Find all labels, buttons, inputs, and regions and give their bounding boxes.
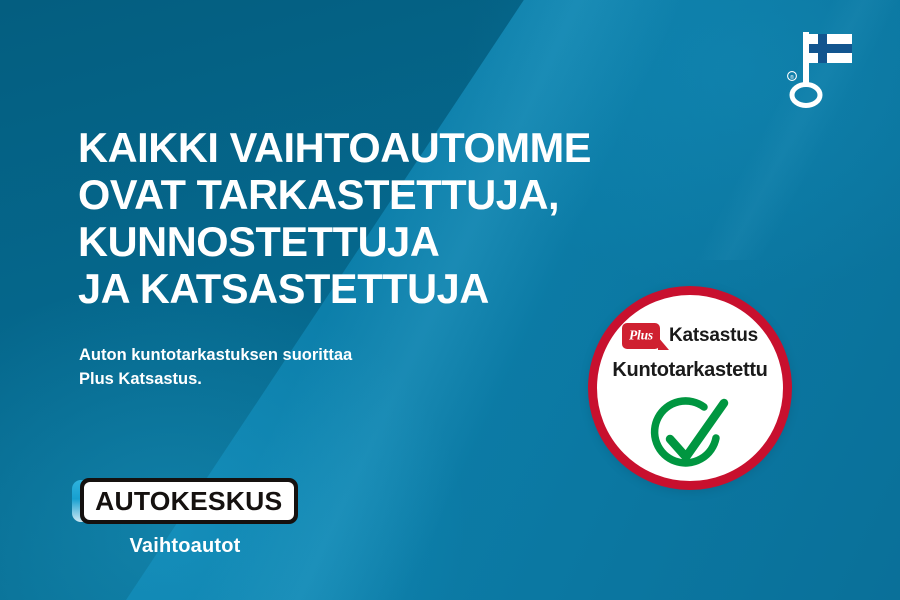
headline-line-1: KAIKKI VAIHTOAUTOMME bbox=[78, 124, 698, 171]
autokeskus-logo: AUTOKESKUS Vaihtoautot bbox=[72, 478, 312, 558]
subtitle-line-1: Auton kuntotarkastuksen suorittaa bbox=[79, 343, 499, 367]
subtitle: Auton kuntotarkastuksen suorittaa Plus K… bbox=[79, 343, 499, 391]
headline-line-4: JA KATSASTETTUJA bbox=[78, 265, 698, 312]
headline-line-3: KUNNOSTETTUJA bbox=[78, 218, 698, 265]
plus-logo-word: Plus bbox=[629, 328, 653, 344]
plus-logo-flick bbox=[658, 337, 669, 350]
marketing-banner: ® KAIKKI VAIHTOAUTOMME OVAT TARKASTETTUJ… bbox=[0, 0, 900, 600]
brand-tagline: Vaihtoautot bbox=[72, 535, 298, 558]
registered-mark: ® bbox=[790, 74, 794, 81]
plus-katsastus-logo: Plus Katsastus bbox=[597, 323, 783, 349]
seal-brand-word: Katsastus bbox=[669, 325, 758, 347]
plus-logo-chip: Plus bbox=[622, 323, 660, 349]
headline-line-2: OVAT TARKASTETTUJA, bbox=[78, 171, 698, 218]
subtitle-line-2: Plus Katsastus. bbox=[79, 367, 499, 391]
avainlippu-key-flag-icon: ® bbox=[786, 24, 864, 108]
green-check-circle-icon bbox=[642, 395, 738, 479]
license-plate-text: AUTOKESKUS bbox=[95, 488, 282, 514]
license-plate-frame: AUTOKESKUS bbox=[80, 478, 298, 524]
license-plate-field: AUTOKESKUS bbox=[84, 482, 294, 520]
plus-katsastus-seal: Plus Katsastus Kuntotarkastettu bbox=[588, 286, 792, 490]
license-plate-logo: AUTOKESKUS bbox=[72, 478, 298, 524]
seal-title: Kuntotarkastettu bbox=[597, 359, 783, 382]
headline: KAIKKI VAIHTOAUTOMME OVAT TARKASTETTUJA,… bbox=[78, 124, 698, 312]
